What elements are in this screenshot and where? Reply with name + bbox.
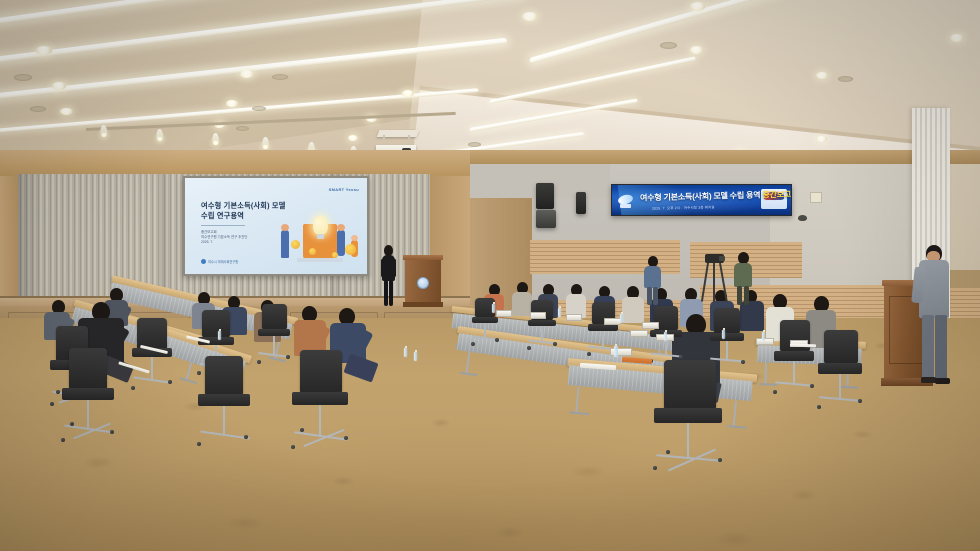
water-bottle: [664, 332, 667, 341]
conference-chair[interactable]: [652, 360, 728, 486]
conference-chair[interactable]: [290, 350, 352, 458]
ceiling-downlight: [226, 100, 238, 107]
illustration-base: [297, 258, 343, 262]
ceiling-downlight: [816, 136, 827, 142]
ceiling-downlight: [402, 90, 414, 97]
water-bottle: [414, 352, 417, 361]
ceiling-downlight: [348, 135, 358, 141]
slide-subtext-2: 2025. 7.: [201, 240, 281, 245]
ceiling-vent: [838, 76, 853, 82]
name-plate: [496, 310, 512, 317]
wall-speaker: [536, 210, 556, 228]
water-bottle: [620, 314, 623, 323]
standing-staff: [644, 256, 662, 304]
water-bottle: [614, 346, 618, 357]
water-bottle: [722, 330, 725, 339]
slide-subtext: 중간보고회 여수연구원 기본소득 연구 추진단 2025. 7.: [201, 230, 281, 245]
stage-presenter: [380, 245, 396, 307]
conference-chair[interactable]: [130, 318, 176, 404]
city-emblem-icon: [417, 277, 429, 289]
name-plate: [630, 330, 648, 337]
ceiling-downlight: [60, 108, 73, 115]
illustration-person: [337, 230, 345, 256]
ceiling-spotlight: [212, 133, 219, 144]
standing-staff: [734, 252, 753, 304]
slide-title: 여수형 기본소득(사회) 모델 수립 연구용역: [201, 201, 319, 221]
ceiling-downlight: [950, 34, 964, 42]
name-plate: [642, 322, 659, 329]
ceiling-downlight: [52, 82, 66, 90]
name-plate: [756, 338, 774, 345]
led-banner: 여수형 기본소득(사회) 모델 수립 용역 중간보고회 2025. 7. 오후 …: [611, 184, 792, 216]
conference-room-photo: SMART Yeosu 여수형 기본소득(사회) 모델 수립 연구용역 중간보고…: [0, 0, 980, 551]
conference-chair[interactable]: [816, 330, 866, 422]
podium-speaker: [918, 245, 952, 387]
name-plate: [566, 314, 582, 321]
ceiling-vent: [272, 74, 288, 80]
conference-chair[interactable]: [526, 300, 558, 358]
cctv-camera-icon: [798, 215, 807, 221]
water-bottle: [492, 304, 495, 313]
ceiling-spotlight: [262, 137, 269, 148]
coin-icon: [345, 244, 356, 255]
ceiling-downlight: [816, 72, 828, 79]
wall-speaker: [536, 183, 554, 209]
illustration-person-head: [337, 224, 345, 231]
illustration-person: [281, 230, 289, 258]
ceiling-downlight: [690, 2, 705, 11]
conference-chair[interactable]: [256, 304, 294, 374]
ceiling-downlight: [690, 46, 703, 54]
slide-title-line1: 여수형 기본소득(사회) 모델: [201, 201, 319, 211]
illustration-person-head: [281, 224, 289, 231]
name-plate: [530, 312, 546, 319]
wall-control-panel[interactable]: [810, 192, 822, 203]
lightbulb-icon: [313, 216, 328, 235]
water-bottle: [558, 308, 561, 317]
wall-speaker: [576, 192, 586, 214]
coin-icon: [291, 240, 300, 249]
lightbulb-base-icon: [317, 234, 324, 239]
ceiling-vent: [236, 126, 249, 131]
ceiling-downlight: [36, 46, 52, 55]
conference-chair[interactable]: [470, 298, 500, 354]
ceiling-vent: [660, 42, 677, 49]
name-plate: [604, 318, 621, 325]
ceiling-downlight: [240, 70, 254, 78]
conference-chair[interactable]: [60, 348, 118, 452]
illustration-person-head: [351, 235, 358, 241]
water-bottle: [218, 331, 221, 340]
ceiling-vent: [468, 142, 481, 147]
ceiling-downlight: [522, 12, 538, 21]
banner-text-main: 여수형 기본소득(사회) 모델 수립 용역: [640, 191, 761, 203]
slide-title-line2: 수립 연구용역: [201, 211, 319, 221]
coin-icon: [332, 252, 338, 258]
ceiling-vent: [30, 106, 46, 112]
slide-org-logo: 여수시 미래사회연구원: [201, 259, 238, 264]
coin-icon: [309, 248, 316, 255]
banner-text-highlight: 중간보고회: [762, 190, 792, 200]
ceiling-vent: [252, 106, 266, 111]
city-symbol-logo-icon: [618, 193, 634, 209]
slide-brand: SMART Yeosu: [329, 187, 359, 192]
conference-chair[interactable]: [196, 356, 254, 456]
projection-screen: SMART Yeosu 여수형 기본소득(사회) 모델 수립 연구용역 중간보고…: [183, 176, 369, 276]
conference-chair[interactable]: [772, 320, 818, 406]
ceiling-vent: [14, 74, 32, 81]
ceiling-spotlight: [156, 129, 163, 140]
stage-lectern: [405, 255, 441, 307]
water-bottle: [762, 332, 765, 341]
water-bottle: [404, 348, 407, 357]
video-camera-tripod: [703, 254, 725, 302]
